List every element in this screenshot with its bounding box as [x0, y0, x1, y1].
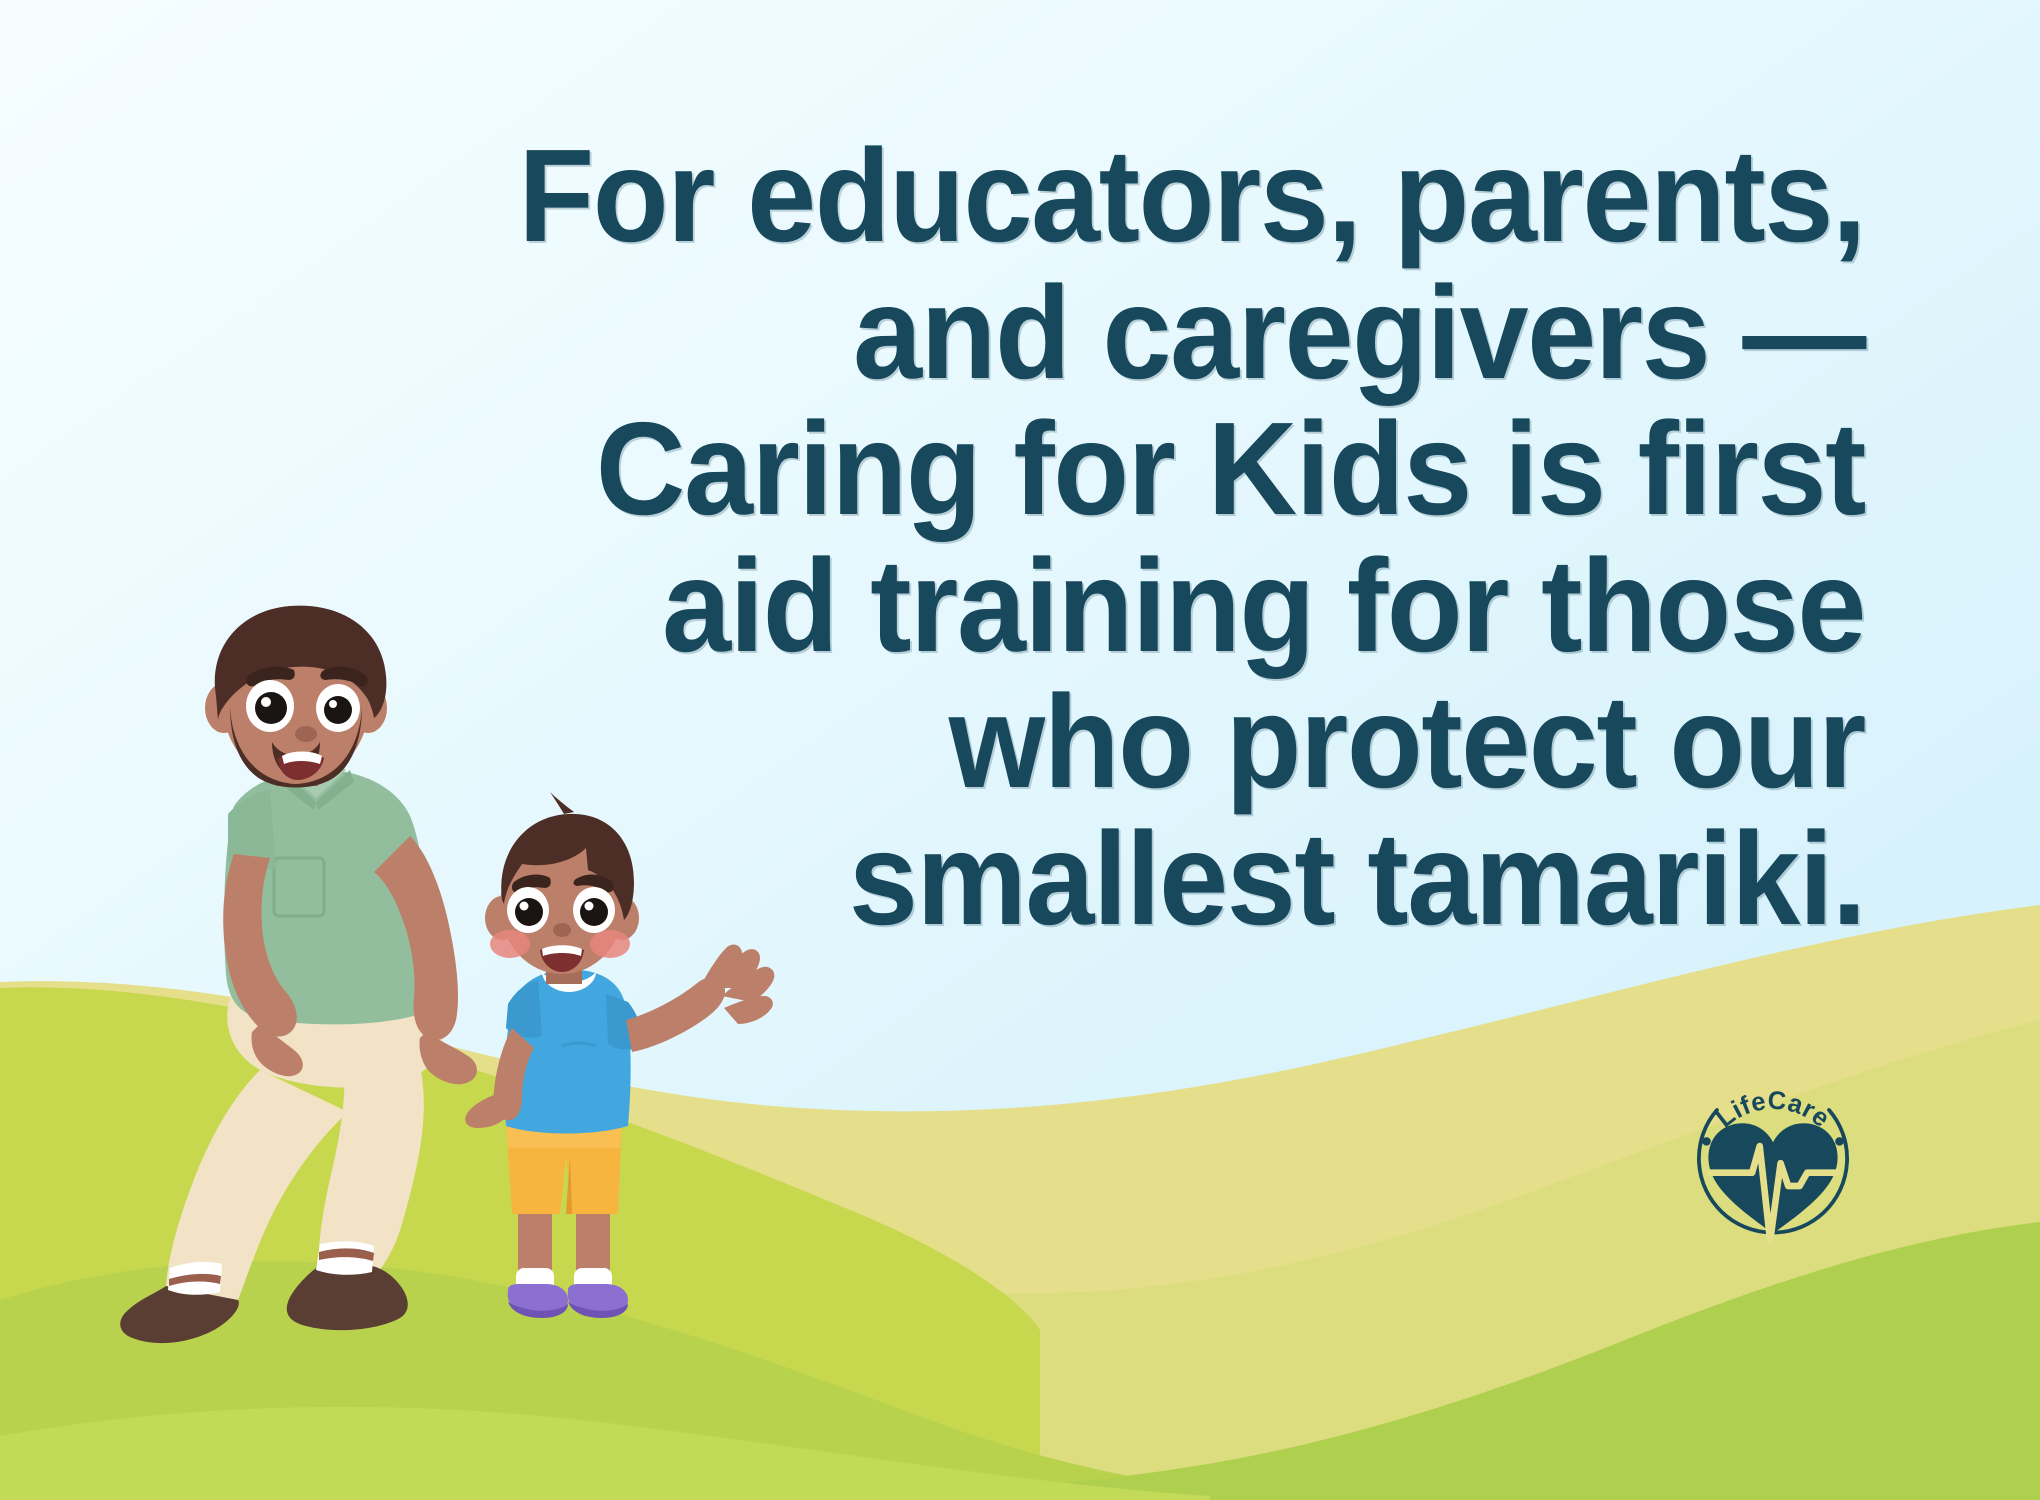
- page-title: For educators, parents, and caregivers —…: [469, 128, 1865, 948]
- logo-dot-right: [1835, 1137, 1844, 1146]
- child-right-arm-waving: [626, 945, 774, 1052]
- lifecare-logo: LifeCare: [1678, 1072, 1868, 1262]
- poster-canvas: For educators, parents, and caregivers —…: [0, 0, 2040, 1500]
- hill-front-right: [900, 1222, 2040, 1500]
- adult-head: [205, 606, 387, 788]
- child-shorts: [506, 1120, 622, 1214]
- child-legs: [508, 1196, 628, 1318]
- hill-bottom-band: [0, 1407, 1210, 1500]
- heart-ecg-icon: [1708, 1123, 1837, 1241]
- logo-dot-left: [1702, 1137, 1711, 1146]
